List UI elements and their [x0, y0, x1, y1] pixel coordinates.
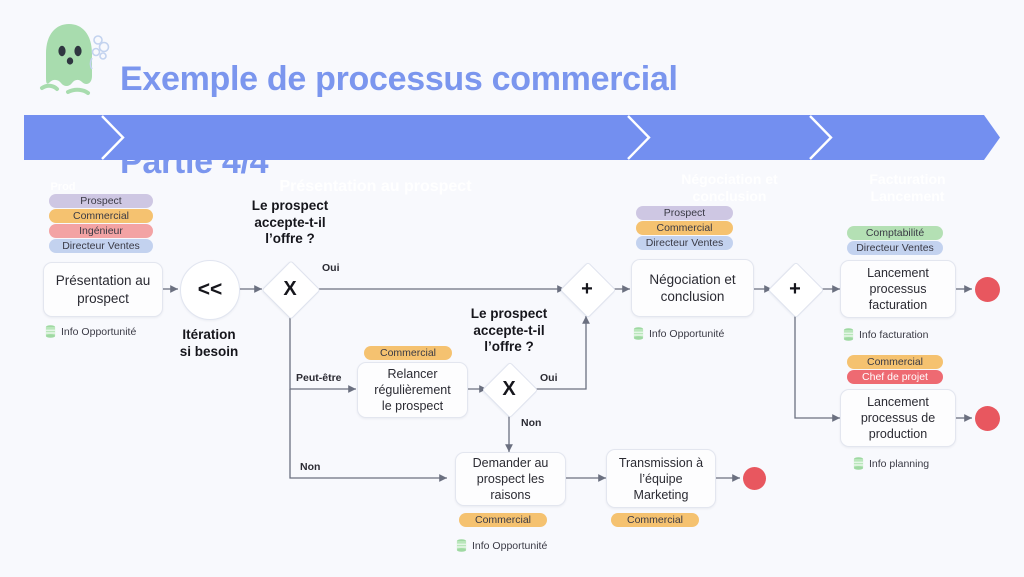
role-badge-directeur-2: Directeur Ventes [636, 236, 733, 250]
data-info-opportunite-2: Info Opportunité [456, 539, 547, 552]
page-title-line1: Exemple de processus commercial [120, 59, 678, 100]
database-icon [456, 539, 467, 552]
data-info-opportunite-3-label: Info Opportunité [649, 328, 724, 340]
gateway-merge-1[interactable] [560, 262, 617, 319]
database-icon [853, 457, 864, 470]
gateway-iteration[interactable]: << [180, 260, 240, 320]
diagram-canvas: Exemple de processus commercial Partie 4… [0, 0, 1024, 577]
phase-label-negociation: Négociation et conclusion [649, 165, 810, 210]
phase-bar-shape [24, 115, 1000, 160]
role-badge-ingenieur-1: Ingénieur [49, 224, 153, 238]
task-negociation-conclusion[interactable]: Négociation et conclusion [631, 259, 754, 317]
ghost-mascot-icon [24, 14, 116, 100]
phase-label-facturation: Facturation Lancement [831, 165, 984, 210]
role-badge-commercial-relancer: Commercial [364, 346, 452, 360]
role-badge-prospect-2: Prospect [636, 206, 733, 220]
edge-label-oui-1: Oui [322, 262, 340, 274]
task-lancement-facturation[interactable]: Lancement processus facturation [840, 260, 956, 318]
edge-label-peut-etre: Peut-être [296, 372, 342, 384]
task-lancement-production[interactable]: Lancement processus de production [840, 389, 956, 447]
end-event-marketing [743, 467, 766, 490]
role-badge-directeur-3: Directeur Ventes [847, 241, 943, 255]
gateway-decision-1[interactable] [261, 260, 320, 319]
database-icon [45, 325, 56, 338]
decision1-question: Le prospect accepte-t-il l’offre ? [233, 198, 347, 248]
role-badge-commercial-1: Commercial [49, 209, 153, 223]
role-badge-commercial-demander: Commercial [459, 513, 547, 527]
edge-label-non-1: Non [300, 461, 320, 473]
role-badge-prospect-1: Prospect [49, 194, 153, 208]
role-badge-commercial-3: Commercial [847, 355, 943, 369]
data-info-planning: Info planning [853, 457, 929, 470]
decision2-question: Le prospect accepte-t-il l’offre ? [452, 306, 566, 356]
task-demander-raisons[interactable]: Demander au prospect les raisons [455, 452, 566, 506]
phase-label-presentation: Présentation au prospect [123, 165, 628, 210]
gateway-split-2[interactable] [768, 262, 825, 319]
edge-label-non-2: Non [521, 417, 541, 429]
data-info-facturation: Info facturation [843, 328, 928, 341]
data-info-opportunite-1: Info Opportunité [45, 325, 136, 338]
data-info-facturation-label: Info facturation [859, 329, 928, 341]
role-badge-directeur-1: Directeur Ventes [49, 239, 153, 253]
role-badge-commercial-transmission: Commercial [611, 513, 699, 527]
task-transmission-marketing[interactable]: Transmission à l’équipe Marketing [606, 449, 716, 508]
gateway-iteration-caption: Itération si besoin [169, 327, 249, 360]
end-event-production [975, 406, 1000, 431]
edge-label-oui-2: Oui [540, 372, 558, 384]
role-badge-comptabilite: Comptabilité [847, 226, 943, 240]
end-event-facturation [975, 277, 1000, 302]
database-icon [843, 328, 854, 341]
data-info-planning-label: Info planning [869, 458, 929, 470]
task-relancer-regulierement[interactable]: Relancer régulièrement le prospect [357, 362, 468, 418]
role-badge-commercial-2: Commercial [636, 221, 733, 235]
task-presentation-au-prospect[interactable]: Présentation au prospect [43, 262, 163, 317]
data-info-opportunite-1-label: Info Opportunité [61, 326, 136, 338]
data-info-opportunite-3: Info Opportunité [633, 327, 724, 340]
role-badge-chef-de-projet: Chef de projet [847, 370, 943, 384]
data-info-opportunite-2-label: Info Opportunité [472, 540, 547, 552]
database-icon [633, 327, 644, 340]
phase-bar: Prod Présentation au prospect Négociatio… [24, 115, 1000, 160]
gateway-decision-2[interactable] [482, 362, 539, 419]
